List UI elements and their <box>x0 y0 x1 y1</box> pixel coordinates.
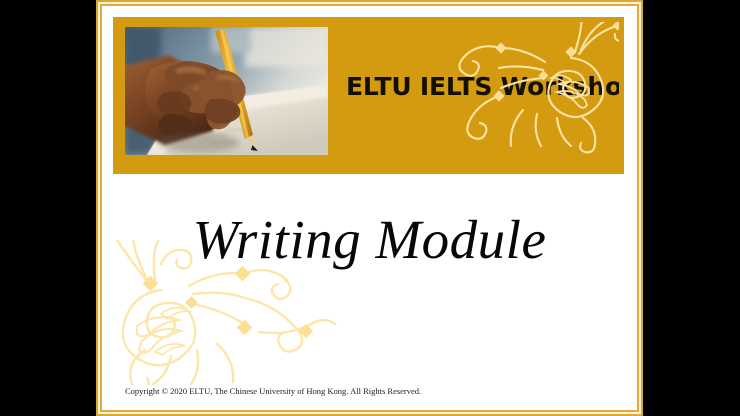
header-band: ELTU IELTS Workshop <box>113 17 624 174</box>
slide-viewport: ELTU IELTS Workshop <box>0 0 740 416</box>
letterbox-bar-right <box>643 0 740 416</box>
header-band-inner: ELTU IELTS Workshop <box>118 22 619 169</box>
page-title: ELTU IELTS Workshop <box>346 74 624 99</box>
slide-content-area: ELTU IELTS Workshop <box>102 6 637 410</box>
hand-writing-photo <box>125 27 328 155</box>
letterbox-bar-left <box>0 0 96 416</box>
module-title: Writing Module <box>113 212 626 267</box>
presentation-slide: ELTU IELTS Workshop <box>96 0 643 416</box>
copyright-notice: Copyright © 2020 ELTU, The Chinese Unive… <box>125 387 421 396</box>
slide-body: Writing Module <box>113 174 626 399</box>
